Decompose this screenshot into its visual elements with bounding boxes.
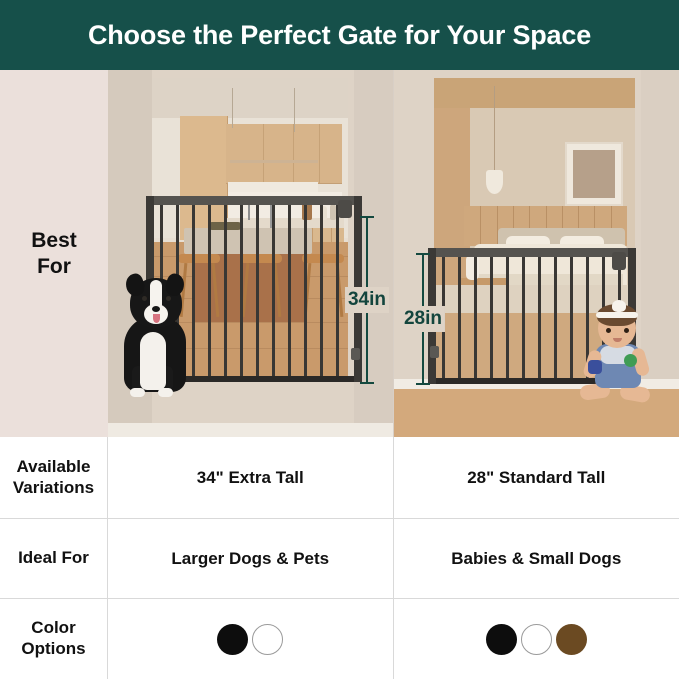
row-label-color-options: Color Options [0,599,108,679]
color-swatches-right [486,624,587,655]
dimension-cap-bottom [360,382,374,384]
table-row-available-variations: Available Variations 34" Extra Tall 28" … [0,437,679,518]
cell-colors-right [394,599,679,679]
best-for-label: Best For [31,228,77,278]
comparison-table: Available Variations 34" Extra Tall 28" … [0,437,679,679]
gate-latch-handle [612,252,626,270]
table-row-color-options: Color Options [0,598,679,679]
gate-top-rail [146,196,362,205]
cell-ideal-left: Larger Dogs & Pets [108,519,394,598]
color-swatch-brown[interactable] [556,624,587,655]
dog-tongue [153,314,160,323]
bedroom-ceiling-beam [434,78,635,108]
dog-chest-blaze [140,332,166,390]
color-swatch-white[interactable] [252,624,283,655]
table-row-ideal-for: Ideal For Larger Dogs & Pets Babies & Sm… [0,518,679,598]
pendant-lamp-shade [486,170,503,194]
mirror-glass [573,150,615,198]
kitchen-pendant-cord-1 [232,88,233,128]
bedroom-framed-mirror [565,142,623,206]
baby-toy-blue [588,360,602,374]
dog-paw-right [158,388,173,397]
row-label-best-for: Best For [0,70,108,437]
row-label-line1: Color [21,618,85,639]
baby-headband [596,312,638,318]
baby-toy-green [624,354,637,367]
page-title: Choose the Perfect Gate for Your Space [88,20,591,51]
dimension-label-34in: 34in [345,287,389,313]
kitchen-pendant-cord-2 [294,88,295,132]
border-collie-dog [114,270,198,402]
pendant-lamp-cord [494,86,495,172]
baby-sitting [584,302,654,406]
gate-top-rail [428,248,636,257]
color-swatch-black[interactable] [486,624,517,655]
kitchen-baseboard [108,423,394,437]
best-for-line1: Best [31,228,77,253]
color-swatches-left [217,624,283,655]
kitchen-open-shelf [228,182,318,192]
color-swatch-white[interactable] [521,624,552,655]
dog-eye-right [166,296,171,301]
baby-eye-right [624,328,629,333]
dog-paw-left [130,388,145,397]
row-label-available-variations: Available Variations [0,437,108,518]
dimension-cap-top [360,216,374,218]
header-banner: Choose the Perfect Gate for Your Space [0,0,679,70]
row-label-line1: Available [13,457,94,478]
dimension-cap-bottom [416,383,430,385]
dog-eye-left [142,296,147,301]
kitchen-cabinet-rail [230,160,318,163]
kitchen-upper-cabinets [226,124,342,184]
hero-comparison-band: Best For [0,70,679,437]
color-swatch-black[interactable] [217,624,248,655]
dimension-28in: 28in [400,253,446,385]
row-label-line2: Variations [13,478,94,499]
cell-colors-left [108,599,394,679]
baby-eye-left [606,328,611,333]
dimension-label-28in: 28in [401,306,445,332]
dog-nose [152,306,160,312]
scene-divider [393,70,394,437]
scene-kitchen-34in: 34in [108,70,394,437]
cell-variations-left: 34" Extra Tall [108,437,394,518]
scene-bedroom-28in: 28in [394,70,679,437]
best-for-line2: For [31,254,77,279]
dimension-cap-top [416,253,430,255]
row-label-ideal-for: Ideal For [0,519,108,598]
row-label-line1: Ideal For [18,548,89,569]
cell-ideal-right: Babies & Small Dogs [394,519,679,598]
dimension-34in: 34in [344,216,390,384]
cell-variations-right: 28" Standard Tall [394,437,679,518]
comparison-infographic: Choose the Perfect Gate for Your Space B… [0,0,679,679]
baby-headband-bow [612,300,626,312]
row-label-line2: Options [21,639,85,660]
